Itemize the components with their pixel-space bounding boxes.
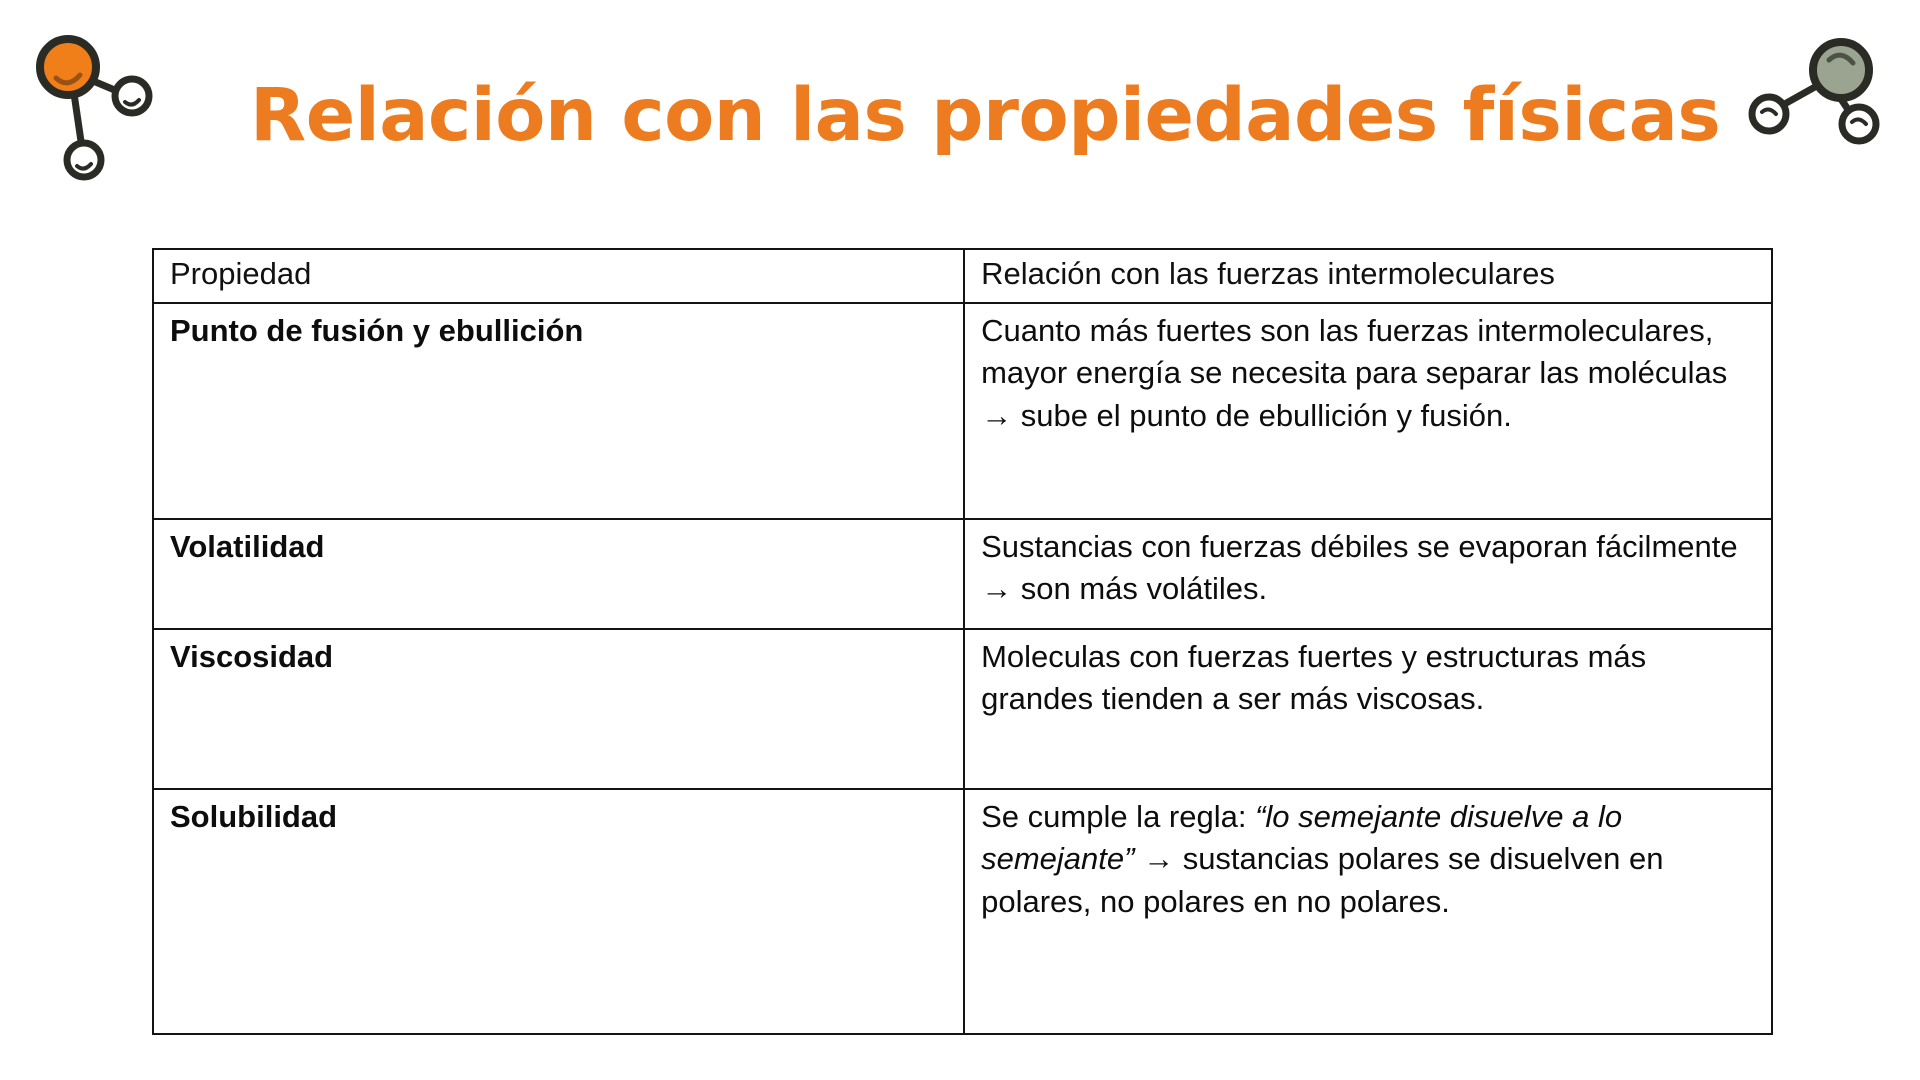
property-name: Punto de fusión y ebullición	[153, 303, 964, 519]
property-name: Viscosidad	[153, 629, 964, 789]
property-relation: Moleculas con fuerzas fuertes y estructu…	[964, 629, 1772, 789]
page-title: Relación con las propiedades físicas	[250, 78, 1730, 155]
table-row: Punto de fusión y ebullición Cuanto más …	[153, 303, 1772, 519]
molecule-gray-icon	[1735, 24, 1895, 159]
properties-table-container: Propiedad Relación con las fuerzas inter…	[152, 248, 1773, 1025]
table-header-row: Propiedad Relación con las fuerzas inter…	[153, 249, 1772, 303]
property-relation: Sustancias con fuerzas débiles se evapor…	[964, 519, 1772, 629]
table-header-relation: Relación con las fuerzas intermoleculare…	[964, 249, 1772, 303]
property-name: Volatilidad	[153, 519, 964, 629]
property-name: Solubilidad	[153, 789, 964, 1034]
table-row: Volatilidad Sustancias con fuerzas débil…	[153, 519, 1772, 629]
property-relation: Se cumple la regla: “lo semejante disuel…	[964, 789, 1772, 1034]
properties-table: Propiedad Relación con las fuerzas inter…	[152, 248, 1773, 1035]
slide-root: Relación con las propiedades físicas Pro…	[0, 0, 1920, 1080]
table-header-property: Propiedad	[153, 249, 964, 303]
table-row: Solubilidad Se cumple la regla: “lo seme…	[153, 789, 1772, 1034]
property-relation: Cuanto más fuertes son las fuerzas inter…	[964, 303, 1772, 519]
table-row: Viscosidad Moleculas con fuerzas fuertes…	[153, 629, 1772, 789]
molecule-orange-icon	[28, 28, 168, 193]
